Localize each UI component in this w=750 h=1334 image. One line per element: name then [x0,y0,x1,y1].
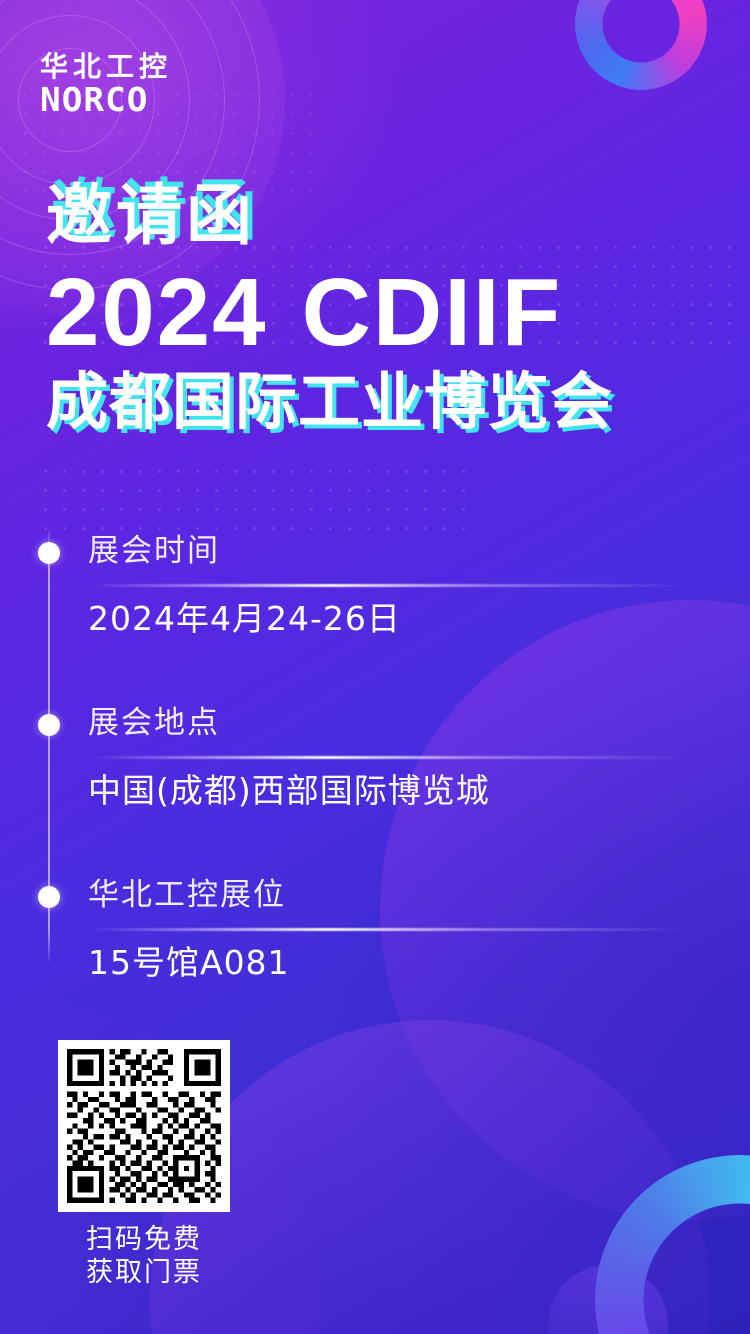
headings-group: 邀请函 2024CDIIF 成都国际工业博览会 [46,182,726,434]
event-subtitle: 成都国际工业博览会 [46,369,726,434]
info-label: 华北工控展位 [88,874,286,917]
brand-logo-cn: 华北工控 [40,52,240,81]
qr-code-icon[interactable] [58,1040,230,1212]
poster-root: 华北工控 NORCO 邀请函 2024CDIIF 成都国际工业博览会 展会时间 … [0,0,750,1334]
blob-circle-lower-center [150,1020,710,1334]
event-title-main: 2024CDIIF [46,265,726,361]
timeline-bullet-icon [38,714,60,736]
brand-logo-en: NORCO [40,83,248,118]
info-value: 中国(成都)西部国际博览城 [88,768,490,814]
timeline-bullet-icon [38,886,60,908]
info-divider-glow [88,756,688,759]
info-label: 展会时间 [88,530,220,573]
blob-circle-bottom-right [548,1265,668,1334]
invitation-title: 邀请函 [46,182,726,251]
gradient-ring-bottom-right-icon [595,1155,750,1334]
info-divider-glow [88,928,688,931]
qr-caption-line1: 扫码免费 [58,1224,230,1257]
gradient-ring-top-right-icon [575,0,707,90]
info-value: 2024年4月24-26日 [88,596,401,642]
qr-section: 扫码免费 获取门票 [58,1040,230,1290]
info-divider-glow [88,584,688,587]
info-value: 15号馆A081 [88,940,290,986]
event-info-section: 展会时间 2024年4月24-26日 展会地点 中国(成都)西部国际博览城 华北… [0,512,750,1012]
event-acronym: CDIIF [302,259,563,366]
qr-caption: 扫码免费 获取门票 [58,1224,230,1290]
timeline-bullet-icon [38,542,60,564]
event-year: 2024 [46,259,268,366]
info-label: 展会地点 [88,702,220,745]
qr-caption-line2: 获取门票 [58,1257,230,1290]
brand-logo[interactable]: 华北工控 NORCO [40,52,240,118]
